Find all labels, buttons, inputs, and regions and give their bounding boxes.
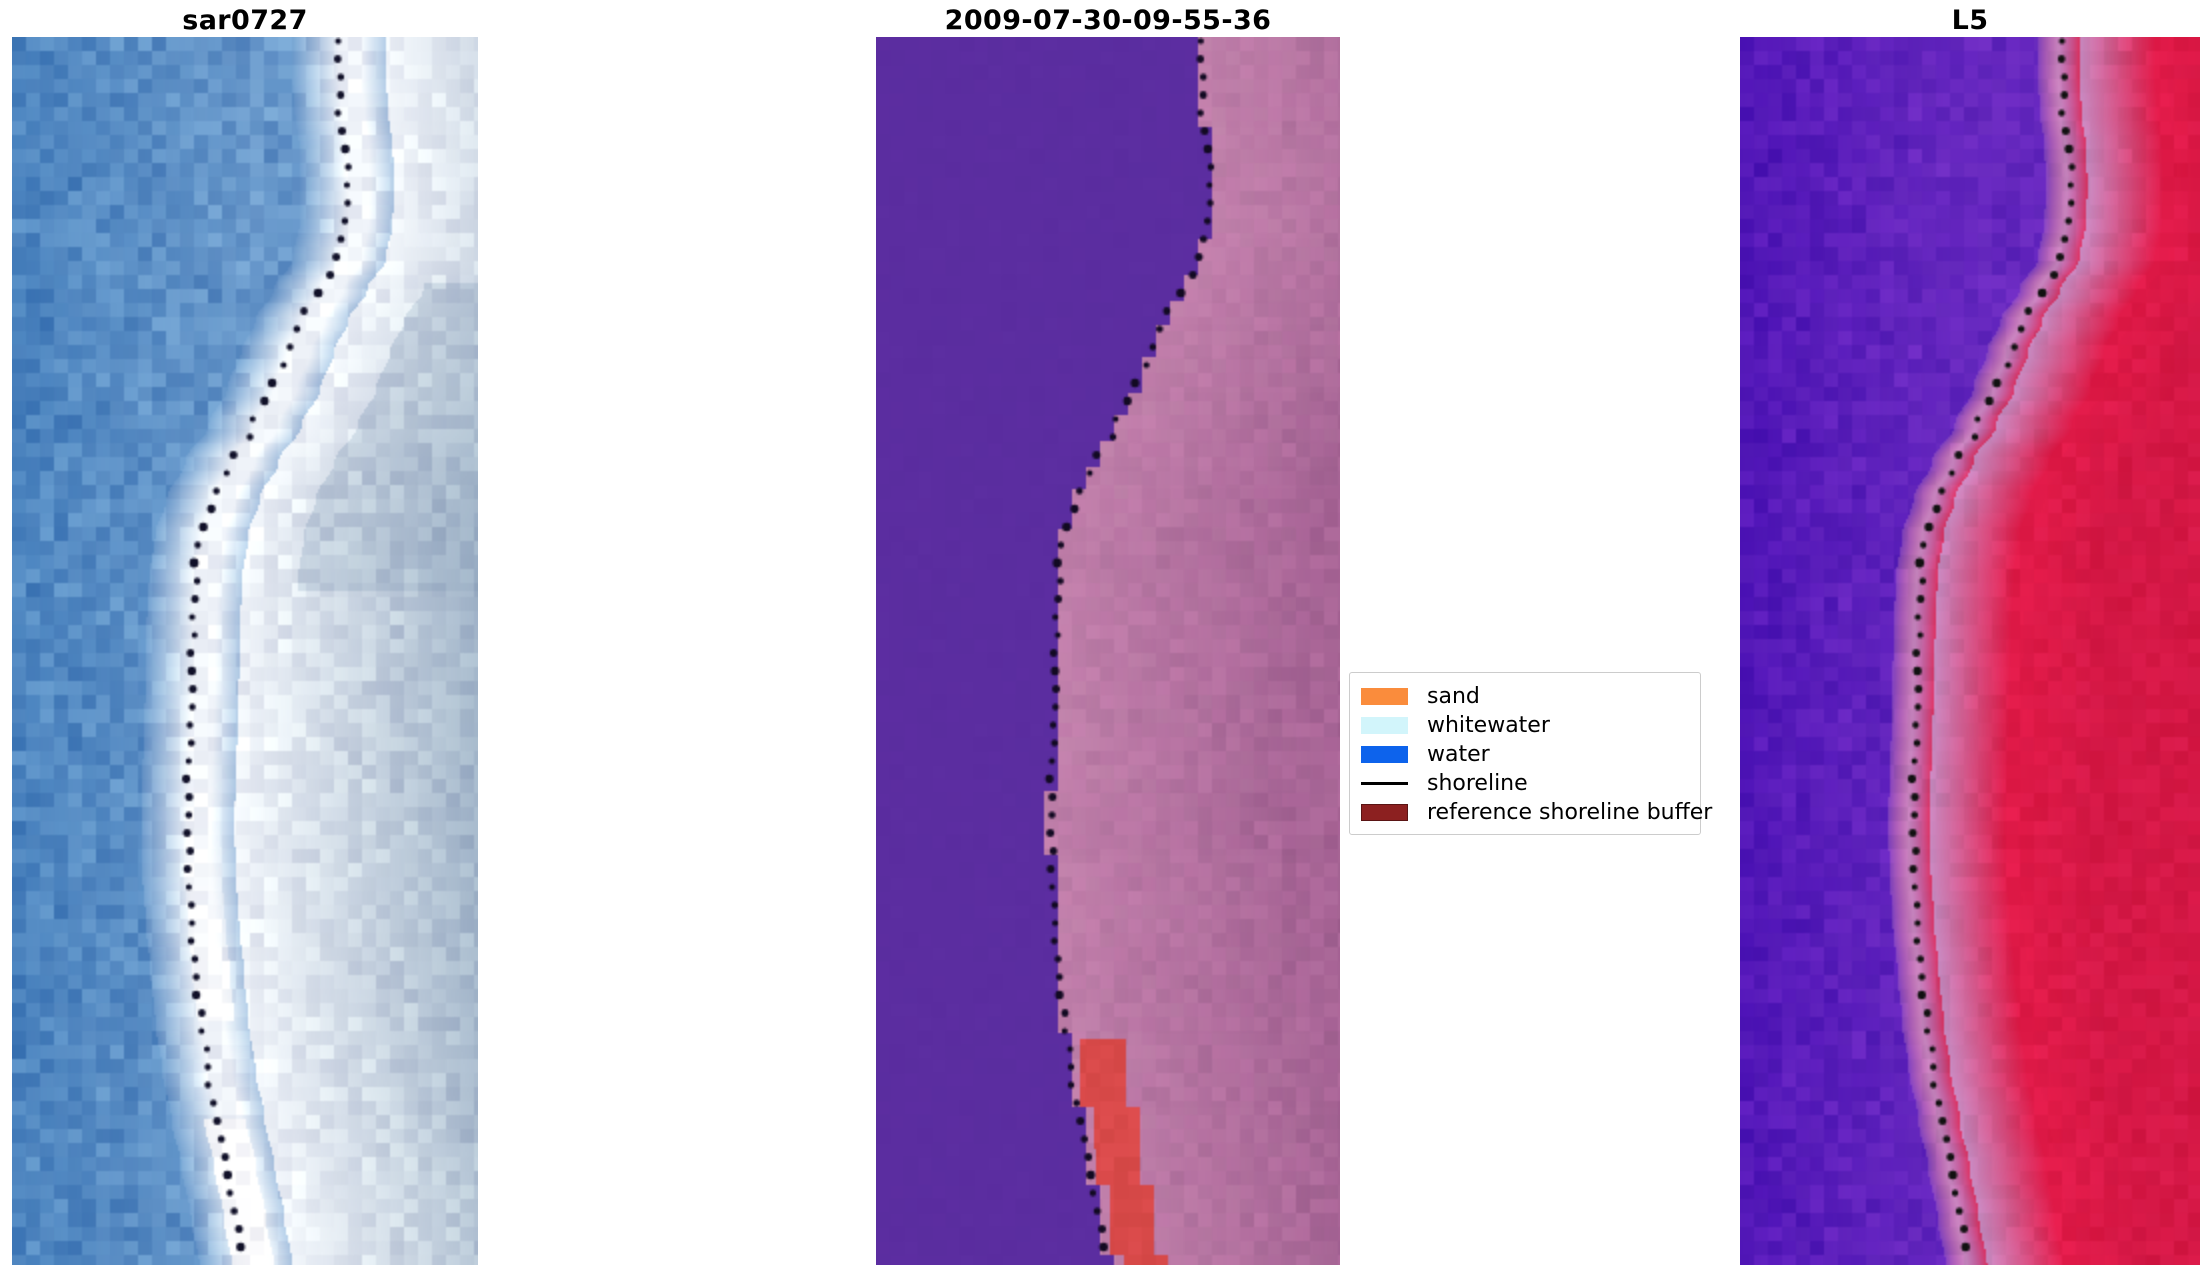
- classified-raster: [876, 37, 1340, 1265]
- legend-swatch-sand: [1361, 688, 1408, 705]
- legend-label-sand: sand: [1427, 686, 1480, 708]
- legend: sand whitewater water shoreline referenc…: [1349, 672, 1701, 835]
- legend-item-whitewater: whitewater: [1361, 711, 1688, 740]
- legend-label-water: water: [1427, 744, 1490, 766]
- panel-title-l5: L5: [1740, 5, 2200, 36]
- classified-panel[interactable]: [876, 37, 1340, 1265]
- legend-label-whitewater: whitewater: [1427, 715, 1550, 737]
- panel-title-classified: 2009-07-30-09-55-36: [876, 5, 1340, 36]
- l5-panel[interactable]: [1740, 37, 2200, 1265]
- sar-raster: [12, 37, 478, 1265]
- legend-label-shoreline: shoreline: [1427, 773, 1528, 795]
- figure-canvas: sar0727 2009-07-30-09-55-36 L5 sand whit…: [0, 0, 2200, 1283]
- legend-swatch-shoreline: [1361, 782, 1408, 785]
- l5-raster: [1740, 37, 2200, 1265]
- legend-label-reference-buffer: reference shoreline buffer: [1427, 802, 1712, 824]
- sar-panel[interactable]: [12, 37, 478, 1265]
- legend-item-water: water: [1361, 740, 1688, 769]
- legend-swatch-water: [1361, 746, 1408, 763]
- legend-swatch-whitewater: [1361, 717, 1408, 734]
- legend-item-shoreline: shoreline: [1361, 769, 1688, 798]
- legend-item-sand: sand: [1361, 682, 1688, 711]
- legend-item-reference-buffer: reference shoreline buffer: [1361, 798, 1688, 827]
- legend-swatch-reference-buffer: [1361, 804, 1408, 821]
- panel-title-sar: sar0727: [12, 5, 478, 36]
